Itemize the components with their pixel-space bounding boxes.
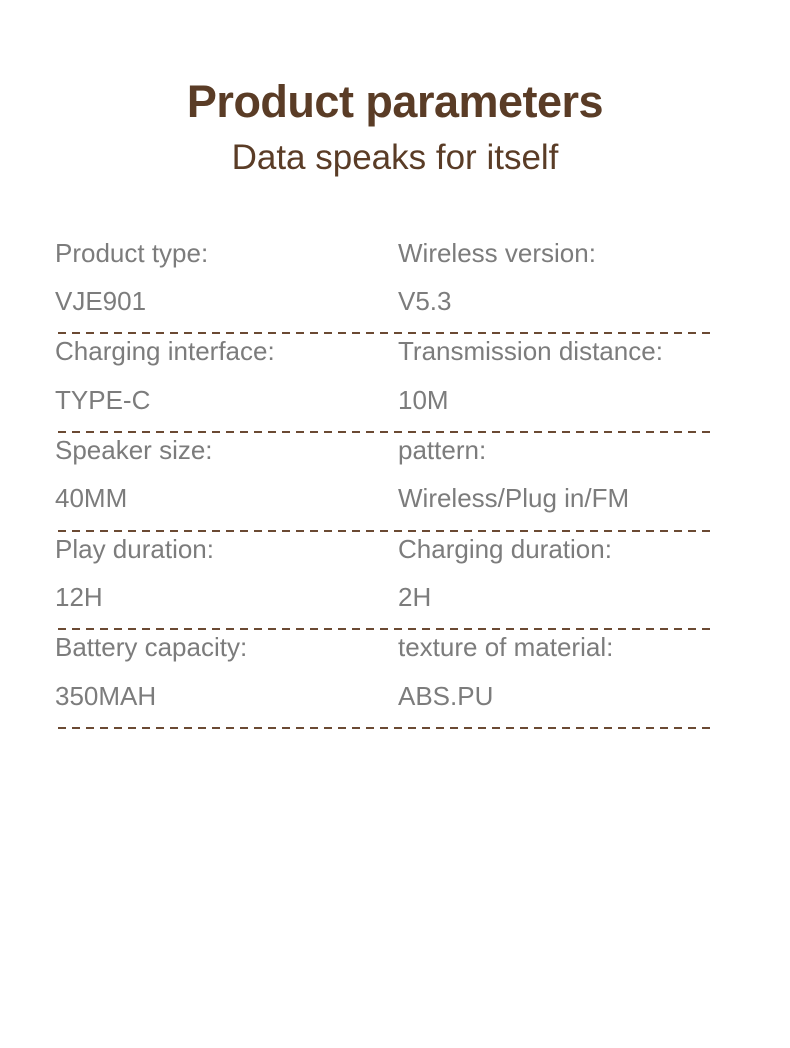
page-header: Product parameters Data speaks for itsel… bbox=[0, 0, 790, 178]
table-row: Play duration: 12H Charging duration: 2H bbox=[55, 532, 732, 629]
spec-cell-left: Battery capacity: 350MAH bbox=[55, 630, 398, 713]
spec-row-block: Speaker size: 40MM pattern: Wireless/Plu… bbox=[55, 433, 732, 532]
spec-label: texture of material: bbox=[398, 630, 732, 664]
spec-table: Product type: VJE901 Wireless version: V… bbox=[0, 236, 790, 729]
spec-value: 350MAH bbox=[55, 679, 398, 713]
spec-label: Play duration: bbox=[55, 532, 398, 566]
spec-value: VJE901 bbox=[55, 284, 398, 318]
spec-cell-left: Product type: VJE901 bbox=[55, 236, 398, 319]
table-row: Product type: VJE901 Wireless version: V… bbox=[55, 236, 732, 333]
spec-value: 2H bbox=[398, 580, 732, 614]
spec-label: Battery capacity: bbox=[55, 630, 398, 664]
spec-label: Transmission distance: bbox=[398, 334, 732, 368]
spec-label: Product type: bbox=[55, 236, 398, 270]
spec-label: Charging interface: bbox=[55, 334, 398, 368]
spec-row-block: Product type: VJE901 Wireless version: V… bbox=[55, 236, 732, 335]
spec-value: 12H bbox=[55, 580, 398, 614]
spec-cell-left: Speaker size: 40MM bbox=[55, 433, 398, 516]
page-title: Product parameters bbox=[0, 78, 790, 125]
spec-cell-left: Play duration: 12H bbox=[55, 532, 398, 615]
product-parameters-page: Product parameters Data speaks for itsel… bbox=[0, 0, 790, 1048]
table-row: Speaker size: 40MM pattern: Wireless/Plu… bbox=[55, 433, 732, 530]
spec-cell-left: Charging interface: TYPE-C bbox=[55, 334, 398, 417]
spec-cell-right: Transmission distance: 10M bbox=[398, 334, 732, 417]
spec-value: TYPE-C bbox=[55, 383, 398, 417]
spec-value: V5.3 bbox=[398, 284, 732, 318]
spec-row-block: Battery capacity: 350MAH texture of mate… bbox=[55, 630, 732, 729]
spec-cell-right: Charging duration: 2H bbox=[398, 532, 732, 615]
spec-row-block: Charging interface: TYPE-C Transmission … bbox=[55, 334, 732, 433]
spec-cell-right: texture of material: ABS.PU bbox=[398, 630, 732, 713]
spec-cell-right: pattern: Wireless/Plug in/FM bbox=[398, 433, 732, 516]
spec-value: ABS.PU bbox=[398, 679, 732, 713]
spec-label: Wireless version: bbox=[398, 236, 732, 270]
row-divider bbox=[58, 727, 712, 729]
spec-label: Charging duration: bbox=[398, 532, 732, 566]
spec-cell-right: Wireless version: V5.3 bbox=[398, 236, 732, 319]
page-subtitle: Data speaks for itself bbox=[0, 139, 790, 178]
spec-label: Speaker size: bbox=[55, 433, 398, 467]
spec-value: Wireless/Plug in/FM bbox=[398, 481, 732, 515]
table-row: Battery capacity: 350MAH texture of mate… bbox=[55, 630, 732, 727]
table-row: Charging interface: TYPE-C Transmission … bbox=[55, 334, 732, 431]
spec-value: 40MM bbox=[55, 481, 398, 515]
spec-value: 10M bbox=[398, 383, 732, 417]
spec-label: pattern: bbox=[398, 433, 732, 467]
spec-row-block: Play duration: 12H Charging duration: 2H bbox=[55, 532, 732, 631]
